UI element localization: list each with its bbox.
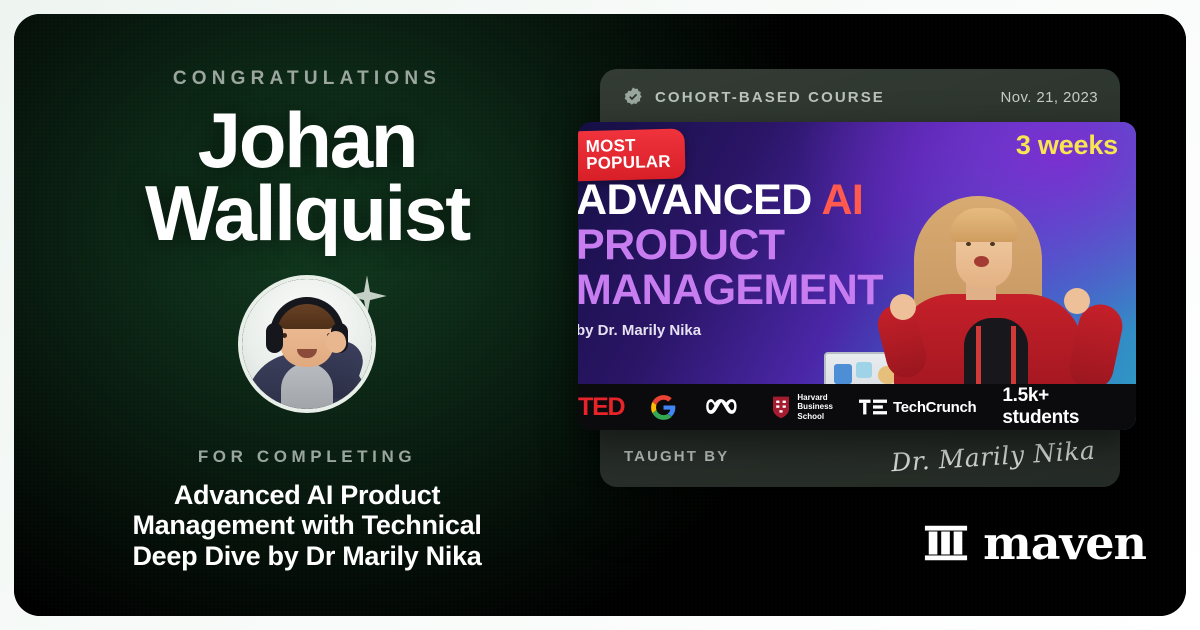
most-popular-line2: POPULAR (586, 153, 671, 173)
thumbnail-title-line3: MANAGEMENT (578, 268, 976, 314)
for-completing-label: FOR COMPLETING (198, 447, 416, 467)
course-title-line2: Management with Technical (92, 510, 522, 540)
harvard-business-school-logo: Harvard Business School (771, 393, 833, 421)
course-duration-badge: 3 weeks (1016, 130, 1118, 161)
hbs-line2: Business (797, 402, 833, 411)
course-card-header: COHORT-BASED COURSE Nov. 21, 2023 (600, 69, 1120, 125)
course-card-footer: TAUGHT BY Dr. Marily Nika (600, 425, 1120, 487)
thumbnail-title: ADVANCED AI PRODUCT MANAGEMENT by Dr. Ma… (578, 178, 976, 339)
ted-logo: TED (578, 393, 624, 422)
avatar (238, 275, 376, 413)
student-count: 1.5k+ students (1002, 385, 1120, 429)
cohort-based-course-label: COHORT-BASED COURSE (655, 89, 885, 106)
congratulations-kicker: CONGRATULATIONS (173, 68, 441, 90)
hbs-line3: School (797, 412, 833, 421)
course-thumbnail[interactable]: MOST POPULAR 3 weeks ADVANCED AI PRODUCT… (578, 122, 1136, 430)
harvard-business-school-text: Harvard Business School (797, 393, 833, 421)
course-title-line1: Advanced AI Product (92, 480, 522, 510)
partner-logos-strip: TED (578, 384, 1136, 430)
thumbnail-title-advanced: ADVANCED (578, 176, 812, 224)
instructor-signature: Dr. Marily Nika (891, 435, 1097, 476)
recipient-name-line2: Wallquist (145, 177, 469, 250)
thumbnail-title-ai: AI (821, 176, 863, 224)
thumbnail-byline: by Dr. Marily Nika (578, 322, 976, 339)
thumbnail-title-line1: ADVANCED AI (578, 178, 976, 223)
techcrunch-text: TechCrunch (893, 399, 976, 416)
certificate-frame: CONGRATULATIONS Johan Wallquist (0, 0, 1200, 630)
sparkle-icon (344, 273, 390, 319)
meta-logo (703, 394, 745, 420)
course-title: Advanced AI Product Management with Tech… (92, 480, 522, 571)
maven-wordmark: maven (983, 520, 1146, 566)
maven-logo: maven (923, 520, 1146, 566)
hbs-line1: Harvard (797, 393, 833, 402)
recipient-name: Johan Wallquist (145, 104, 469, 249)
recipient-name-line1: Johan (145, 104, 469, 177)
course-title-line3: Deep Dive by Dr Marily Nika (92, 541, 522, 571)
thumbnail-title-line2: PRODUCT (578, 223, 976, 269)
taught-by-label: TAUGHT BY (624, 448, 729, 465)
certificate-details: CONGRATULATIONS Johan Wallquist (14, 14, 600, 616)
google-logo (650, 394, 677, 421)
most-popular-badge: MOST POPULAR (578, 128, 685, 181)
course-date: Nov. 21, 2023 (1001, 89, 1099, 106)
verified-badge-icon (622, 86, 644, 108)
techcrunch-logo: TechCrunch (859, 399, 976, 416)
pillar-icon (923, 520, 969, 566)
